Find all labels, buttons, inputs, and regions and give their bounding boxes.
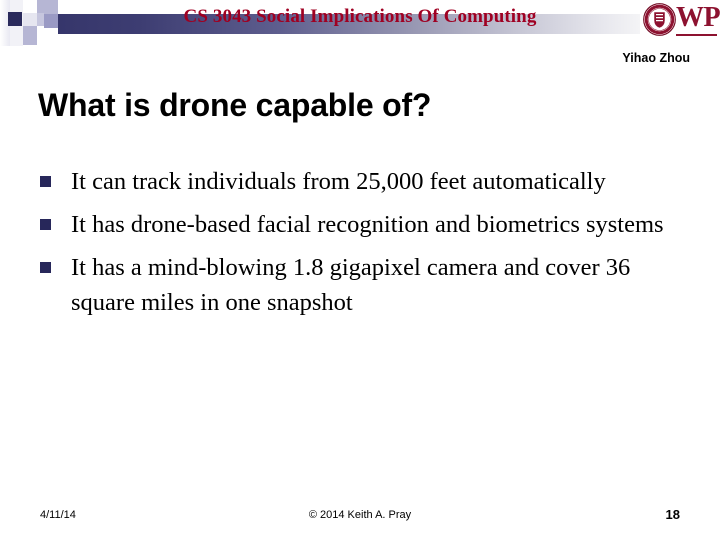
wpi-logo: WPI: [643, 2, 717, 38]
deco-square: [23, 13, 37, 26]
slide-title: What is drone capable of?: [38, 86, 678, 124]
bullet-text: It can track individuals from 25,000 fee…: [71, 168, 606, 195]
deco-square: [23, 0, 37, 13]
deco-square: [44, 14, 58, 28]
bullet-item: It can track individuals from 25,000 fee…: [38, 164, 688, 199]
deco-square: [8, 12, 22, 26]
deco-square: [37, 33, 45, 45]
bullet-text: It has drone-based facial recognition an…: [71, 211, 664, 238]
course-title: CS 3043 Social Implications Of Computing: [100, 6, 620, 28]
bullet-square-icon: [40, 219, 51, 230]
slide-header: CS 3043 Social Implications Of Computing…: [0, 0, 720, 46]
bullet-square-icon: [40, 176, 51, 187]
bullet-list: It can track individuals from 25,000 fee…: [38, 164, 688, 328]
footer-page-number: 18: [0, 507, 680, 522]
deco-square: [44, 28, 58, 40]
bullet-text: It has a mind-blowing 1.8 gigapixel came…: [71, 254, 630, 316]
slide-footer: 4/11/14 © 2014 Keith A. Pray 18: [0, 505, 720, 529]
author-name: Yihao Zhou: [0, 51, 690, 65]
slide: CS 3043 Social Implications Of Computing…: [0, 0, 720, 540]
deco-square: [23, 33, 37, 45]
wpi-underline: [676, 34, 717, 36]
wpi-wordmark: WPI: [676, 3, 720, 33]
bullet-item: It has a mind-blowing 1.8 gigapixel came…: [38, 250, 688, 320]
bullet-item: It has drone-based facial recognition an…: [38, 207, 688, 242]
bullet-square-icon: [40, 262, 51, 273]
deco-square: [44, 0, 58, 14]
wpi-seal-icon: [643, 3, 676, 36]
